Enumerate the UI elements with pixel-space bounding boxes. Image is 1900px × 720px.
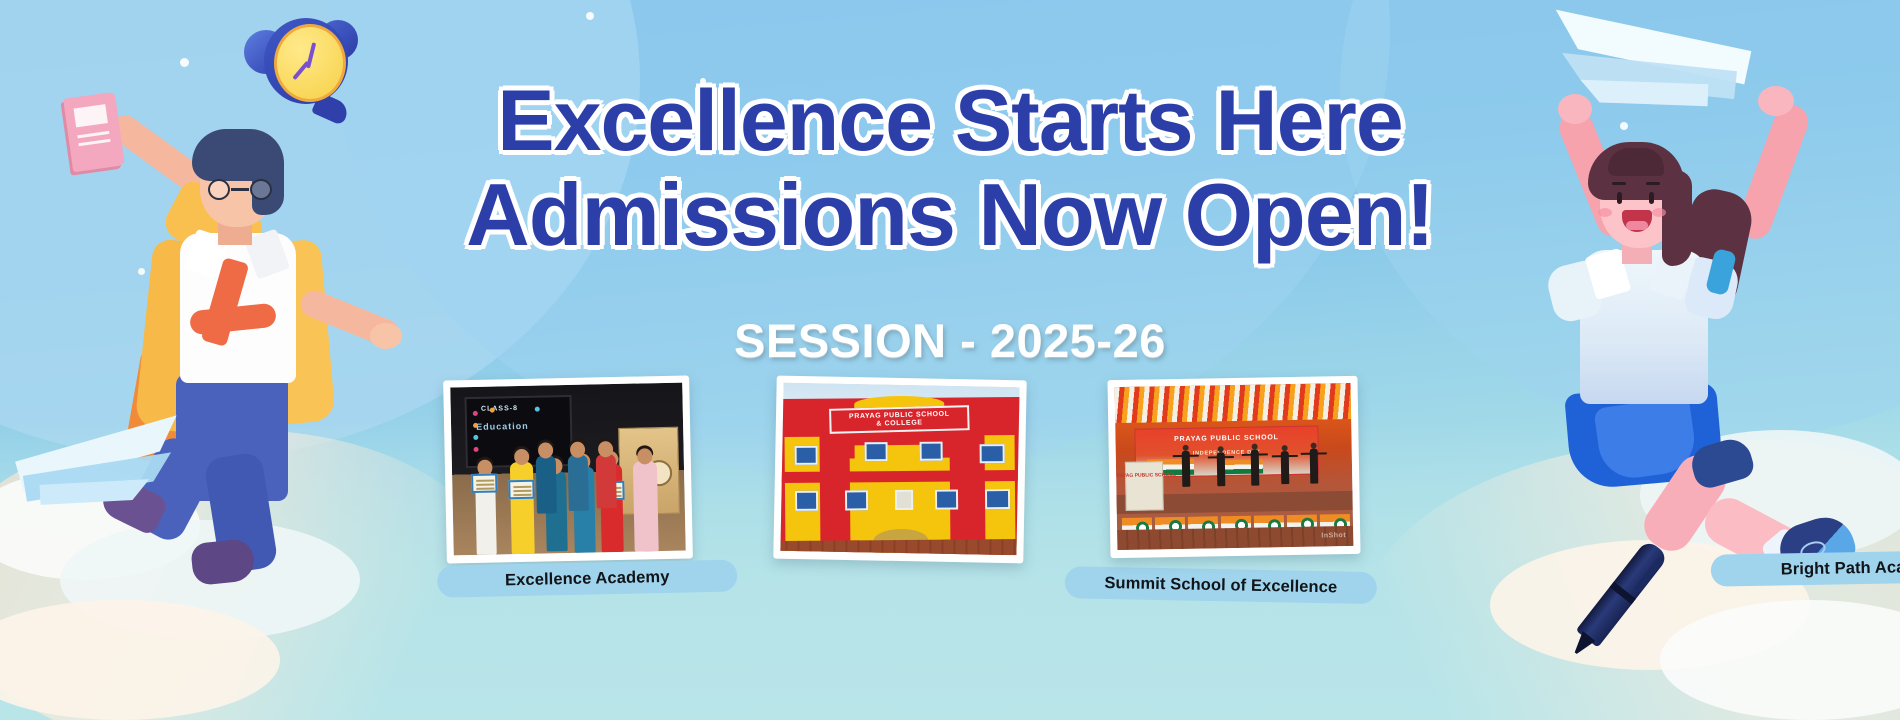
school-card[interactable]: CLASS-8 Education bbox=[443, 375, 693, 563]
photo-stage-performance: PRAYAG PUBLIC SCHOOL INDEPENDENCE DAY bbox=[1115, 383, 1354, 550]
window bbox=[935, 490, 958, 511]
performer bbox=[1309, 449, 1318, 484]
headline-line-1: Excellence Starts Here bbox=[300, 78, 1600, 166]
student-figure bbox=[510, 462, 535, 554]
admissions-banner: Excellence Starts Here Admissions Now Op… bbox=[0, 0, 1900, 720]
certificate-icon bbox=[471, 474, 497, 494]
building-facade: PRAYAG PUBLIC SCHOOL & COLLEGE bbox=[780, 397, 1019, 555]
performer bbox=[1250, 450, 1259, 486]
window bbox=[980, 445, 1005, 464]
brick-base bbox=[780, 539, 1019, 555]
session-subtitle: SESSION - 2025-26 bbox=[500, 313, 1400, 368]
door bbox=[895, 490, 913, 511]
window bbox=[985, 489, 1010, 510]
floor bbox=[1117, 526, 1353, 550]
window bbox=[794, 447, 817, 466]
school-card-label[interactable]: Summit School of Excellence bbox=[1065, 566, 1378, 604]
performer bbox=[1217, 452, 1226, 486]
photo-frame: CLASS-8 Education bbox=[443, 375, 693, 563]
window bbox=[795, 491, 818, 512]
school-card[interactable]: PRAYAG PUBLIC SCHOOL & COLLEGE bbox=[773, 376, 1026, 564]
window bbox=[865, 443, 888, 462]
stage-canopy bbox=[1115, 383, 1352, 423]
school-card[interactable]: PRAYAG PUBLIC SCHOOL INDEPENDENCE DAY bbox=[1107, 376, 1360, 558]
chalkboard-line-2: Education bbox=[476, 421, 529, 432]
headline-line-2: Admissions Now Open! bbox=[300, 170, 1600, 260]
performer bbox=[1281, 451, 1290, 484]
school-card-label[interactable]: Excellence Academy bbox=[437, 559, 738, 597]
photo-watermark: InShot bbox=[1321, 533, 1346, 540]
sign-line-2: & COLLEGE bbox=[876, 420, 922, 429]
photo-school-building: PRAYAG PUBLIC SCHOOL & COLLEGE bbox=[780, 383, 1019, 555]
chalkboard-line-1: CLASS-8 bbox=[481, 405, 518, 413]
banner-content: Excellence Starts Here Admissions Now Op… bbox=[0, 0, 1900, 720]
photo-frame: PRAYAG PUBLIC SCHOOL INDEPENDENCE DAY bbox=[1107, 376, 1360, 558]
school-card-label[interactable]: Bright Path Academy bbox=[1711, 549, 1900, 586]
student-figure bbox=[633, 461, 659, 551]
school-cards: CLASS-8 Education bbox=[445, 378, 1455, 628]
certificate-icon bbox=[508, 480, 534, 500]
backdrop-line-1: PRAYAG PUBLIC SCHOOL bbox=[1174, 434, 1279, 443]
stage-podium: PRAYAG PUBLIC SCHOOL bbox=[1125, 461, 1164, 511]
student-figure bbox=[535, 455, 556, 513]
student-figure bbox=[596, 454, 617, 508]
podium-text: PRAYAG PUBLIC SCHOOL bbox=[1115, 472, 1177, 479]
photo-students-certificates: CLASS-8 Education bbox=[450, 383, 685, 556]
student-figure bbox=[568, 455, 589, 511]
school-signboard: PRAYAG PUBLIC SCHOOL & COLLEGE bbox=[829, 406, 970, 435]
page-title: Excellence Starts Here Admissions Now Op… bbox=[300, 78, 1600, 259]
window bbox=[920, 442, 943, 461]
photo-frame: PRAYAG PUBLIC SCHOOL & COLLEGE bbox=[773, 376, 1026, 564]
window bbox=[845, 490, 868, 511]
performer bbox=[1182, 451, 1191, 487]
